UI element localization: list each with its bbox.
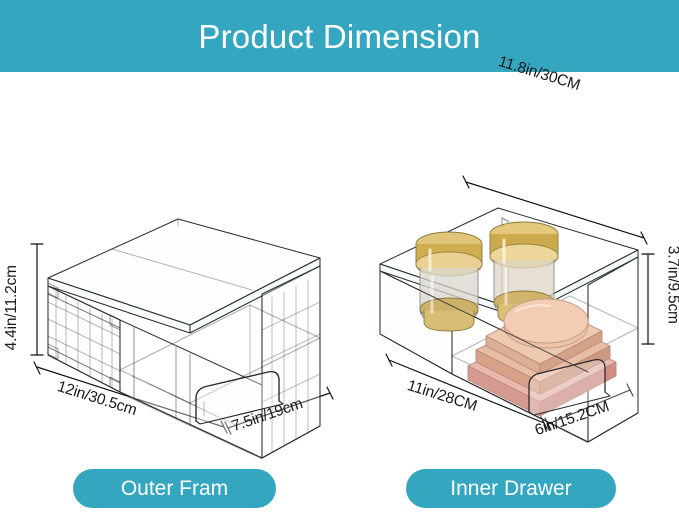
dimension-label-outer-height: 4.4in/11.2cm bbox=[4, 265, 20, 350]
dimension-label-inner-height: 3.7in/9.5cm bbox=[665, 246, 679, 324]
header-banner: Product Dimension bbox=[0, 0, 679, 72]
caption-label-inner-drawer: Inner Drawer bbox=[450, 478, 571, 499]
caption-pill-outer-frame: Outer Fram bbox=[73, 469, 276, 508]
product-illustration-inner-drawer: 11.8in/30CM 3.7in/9.5cm 11in/28CM 6in/15… bbox=[348, 72, 679, 460]
caption-row: Outer Fram Inner Drawer bbox=[0, 460, 679, 513]
product-dimension-infographic: Product Dimension bbox=[0, 0, 679, 513]
product-illustration-outer-frame: 4.4in/11.2cm 12in/30.5cm 7.5in/19cm bbox=[0, 72, 348, 460]
page-title: Product Dimension bbox=[198, 20, 480, 53]
powder-puff bbox=[504, 299, 588, 348]
diagram-area: 4.4in/11.2cm 12in/30.5cm 7.5in/19cm bbox=[0, 72, 679, 460]
inner-drawer-drawing bbox=[348, 72, 679, 460]
caption-pill-inner-drawer: Inner Drawer bbox=[406, 469, 616, 508]
caption-label-outer-frame: Outer Fram bbox=[121, 478, 228, 499]
outer-frame-body bbox=[48, 219, 320, 459]
